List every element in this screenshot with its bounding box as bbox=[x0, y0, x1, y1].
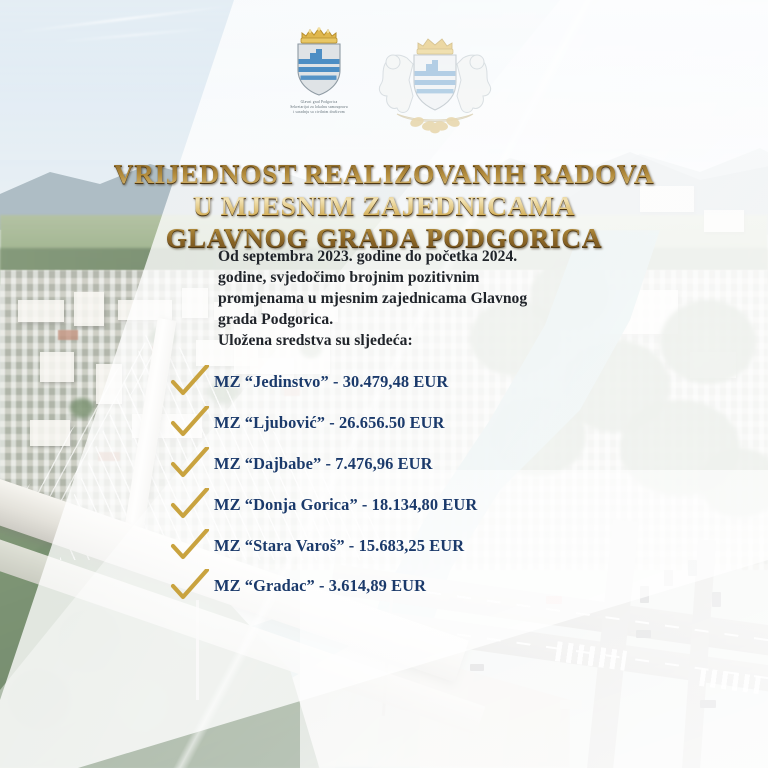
list-item: MZ “Gradac” - 3.614,89 EUR bbox=[168, 566, 728, 607]
organisation-caption: Glavni grad Podgorica Sekretarijat za lo… bbox=[263, 100, 375, 115]
checkmark-icon bbox=[168, 447, 214, 481]
intro-paragraph: Od septembra 2023. godine do početka 202… bbox=[218, 247, 614, 352]
checkmark-icon bbox=[168, 406, 214, 440]
list-item-label: MZ “Ljubović” - 26.656.50 EUR bbox=[214, 413, 445, 433]
infographic-poster: Glavni grad Podgorica Sekretarijat za lo… bbox=[0, 0, 768, 768]
list-item: MZ “Stara Varoš” - 15.683,25 EUR bbox=[168, 525, 728, 566]
list-item-label: MZ “Gradac” - 3.614,89 EUR bbox=[214, 576, 426, 596]
list-item-label: MZ “Stara Varoš” - 15.683,25 EUR bbox=[214, 536, 464, 556]
title-line-1: VRIJEDNOST REALIZOVANIH RADOVA bbox=[0, 158, 768, 190]
funding-list: MZ “Jedinstvo” - 30.479,48 EUR MZ “Ljubo… bbox=[168, 362, 728, 607]
poster-content: Glavni grad Podgorica Sekretarijat za lo… bbox=[0, 0, 768, 768]
list-item-label: MZ “Jedinstvo” - 30.479,48 EUR bbox=[214, 372, 448, 392]
page-title: VRIJEDNOST REALIZOVANIH RADOVA U MJESNIM… bbox=[0, 158, 768, 254]
paragraph-line-2: godine, svjedočimo brojnim pozitivnim bbox=[218, 268, 614, 289]
checkmark-icon bbox=[168, 569, 214, 603]
paragraph-line-3: promjenama u mjesnim zajednicama Glavnog bbox=[218, 289, 614, 310]
list-item: MZ “Ljubović” - 26.656.50 EUR bbox=[168, 403, 728, 444]
city-logo-block: Glavni grad Podgorica Sekretarijat za lo… bbox=[271, 22, 367, 115]
paragraph-line-1: Od septembra 2023. godine do početka 202… bbox=[218, 247, 614, 268]
list-item: MZ “Donja Gorica” - 18.134,80 EUR bbox=[168, 484, 728, 525]
caption-line-3: i saradnju sa civilnim društvom bbox=[263, 110, 375, 115]
podgorica-full-coat-of-arms-with-lions-icon bbox=[373, 22, 497, 134]
emblem-row: Glavni grad Podgorica Sekretarijat za lo… bbox=[0, 22, 768, 134]
podgorica-city-coat-of-arms-icon bbox=[288, 22, 350, 98]
checkmark-icon bbox=[168, 488, 214, 522]
checkmark-icon bbox=[168, 365, 214, 399]
paragraph-line-5: Uložena sredstva su sljedeća: bbox=[218, 331, 614, 352]
title-line-2: U MJESNIM ZAJEDNICAMA bbox=[0, 190, 768, 222]
checkmark-icon bbox=[168, 529, 214, 563]
paragraph-line-4: grada Podgorica. bbox=[218, 310, 614, 331]
list-item: MZ “Jedinstvo” - 30.479,48 EUR bbox=[168, 362, 728, 403]
list-item-label: MZ “Donja Gorica” - 18.134,80 EUR bbox=[214, 495, 477, 515]
list-item-label: MZ “Dajbabe” - 7.476,96 EUR bbox=[214, 454, 433, 474]
list-item: MZ “Dajbabe” - 7.476,96 EUR bbox=[168, 444, 728, 485]
